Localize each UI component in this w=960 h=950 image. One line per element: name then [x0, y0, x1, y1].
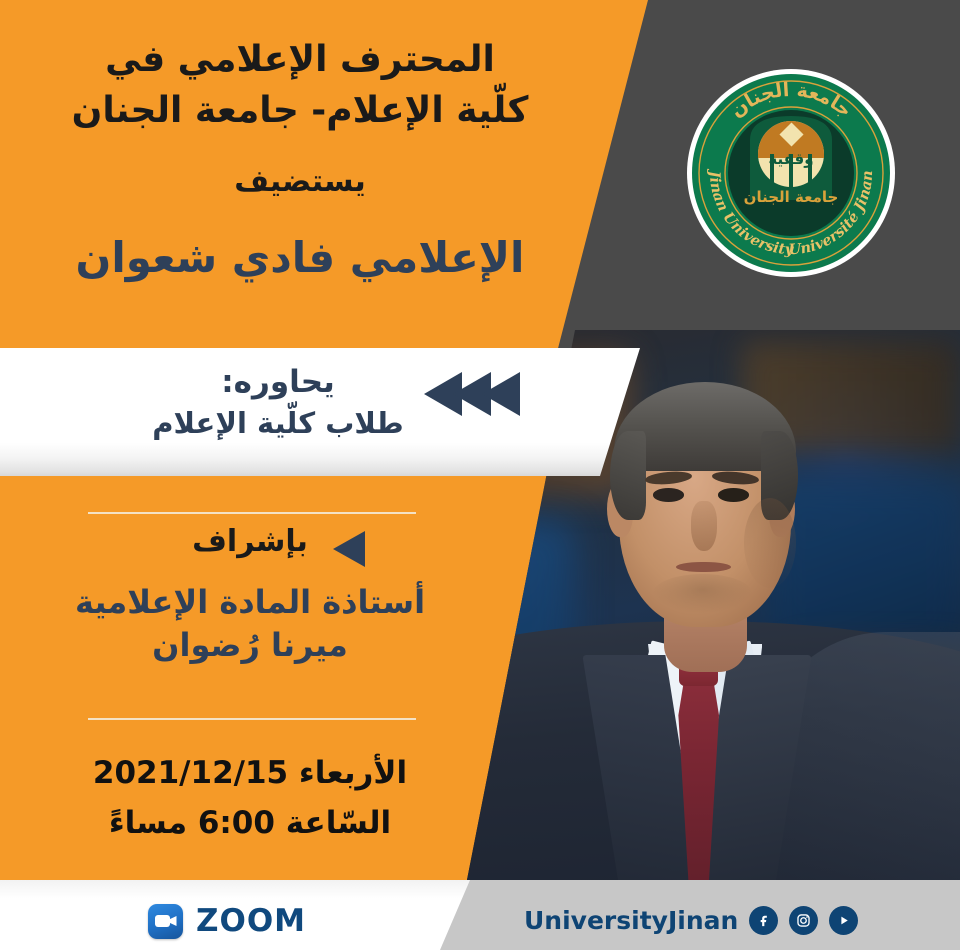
supervision-block: بإشراف أستاذة المادة الإعلامية ميرنا رُض… [0, 524, 500, 667]
supervision-label: بإشراف [0, 524, 500, 559]
divider-bottom [88, 718, 416, 720]
svg-text:وقفية: وقفية [768, 150, 813, 168]
cheek-shadow [744, 498, 796, 588]
page-title-line-2: كلّية الإعلام- جامعة الجنان [0, 85, 600, 136]
nose [691, 501, 717, 551]
jinan-university-logo: جامعة الجنان Jinan University Université… [684, 66, 898, 280]
page-title-line-1: المحترف الإعلامي في [0, 34, 600, 85]
svg-text:جامعة الجنان: جامعة الجنان [744, 188, 839, 206]
interviewers-label: يحاوره: [0, 362, 556, 402]
divider-top [88, 512, 416, 514]
interviewers-text-block: يحاوره: طلاب كلّية الإعلام [0, 362, 556, 444]
header-text-block: المحترف الإعلامي في كلّية الإعلام- جامعة… [0, 34, 600, 282]
supervisor-role: أستاذة المادة الإعلامية [0, 581, 500, 624]
zoom-platform-group[interactable]: ZOOM [148, 903, 306, 939]
facebook-icon[interactable] [749, 906, 778, 935]
event-date: الأربعاء 2021/12/15 [0, 748, 500, 798]
schedule-block: الأربعاء 2021/12/15 السّاعة 6:00 مساءً [0, 748, 500, 848]
zoom-label: ZOOM [196, 903, 306, 939]
hair-side-left [610, 431, 646, 521]
chin-shadow [653, 574, 752, 613]
youtube-icon[interactable] [829, 906, 858, 935]
event-poster: المحترف الإعلامي في كلّية الإعلام- جامعة… [0, 0, 960, 950]
eye-right [718, 488, 749, 501]
event-time: السّاعة 6:00 مساءً [0, 798, 500, 848]
guest-name: الإعلامي فادي شعوان [0, 233, 600, 282]
interviewers-value: طلاب كلّية الإعلام [0, 402, 556, 444]
zoom-camera-icon[interactable] [148, 904, 183, 939]
eye-left [653, 488, 684, 501]
social-handle: UniversityJinan [524, 906, 738, 935]
instagram-icon[interactable] [789, 906, 818, 935]
hosts-word: يستضيف [0, 164, 600, 199]
supervisor-name: ميرنا رُضوان [0, 624, 500, 667]
social-links-group[interactable]: UniversityJinan [524, 906, 858, 935]
